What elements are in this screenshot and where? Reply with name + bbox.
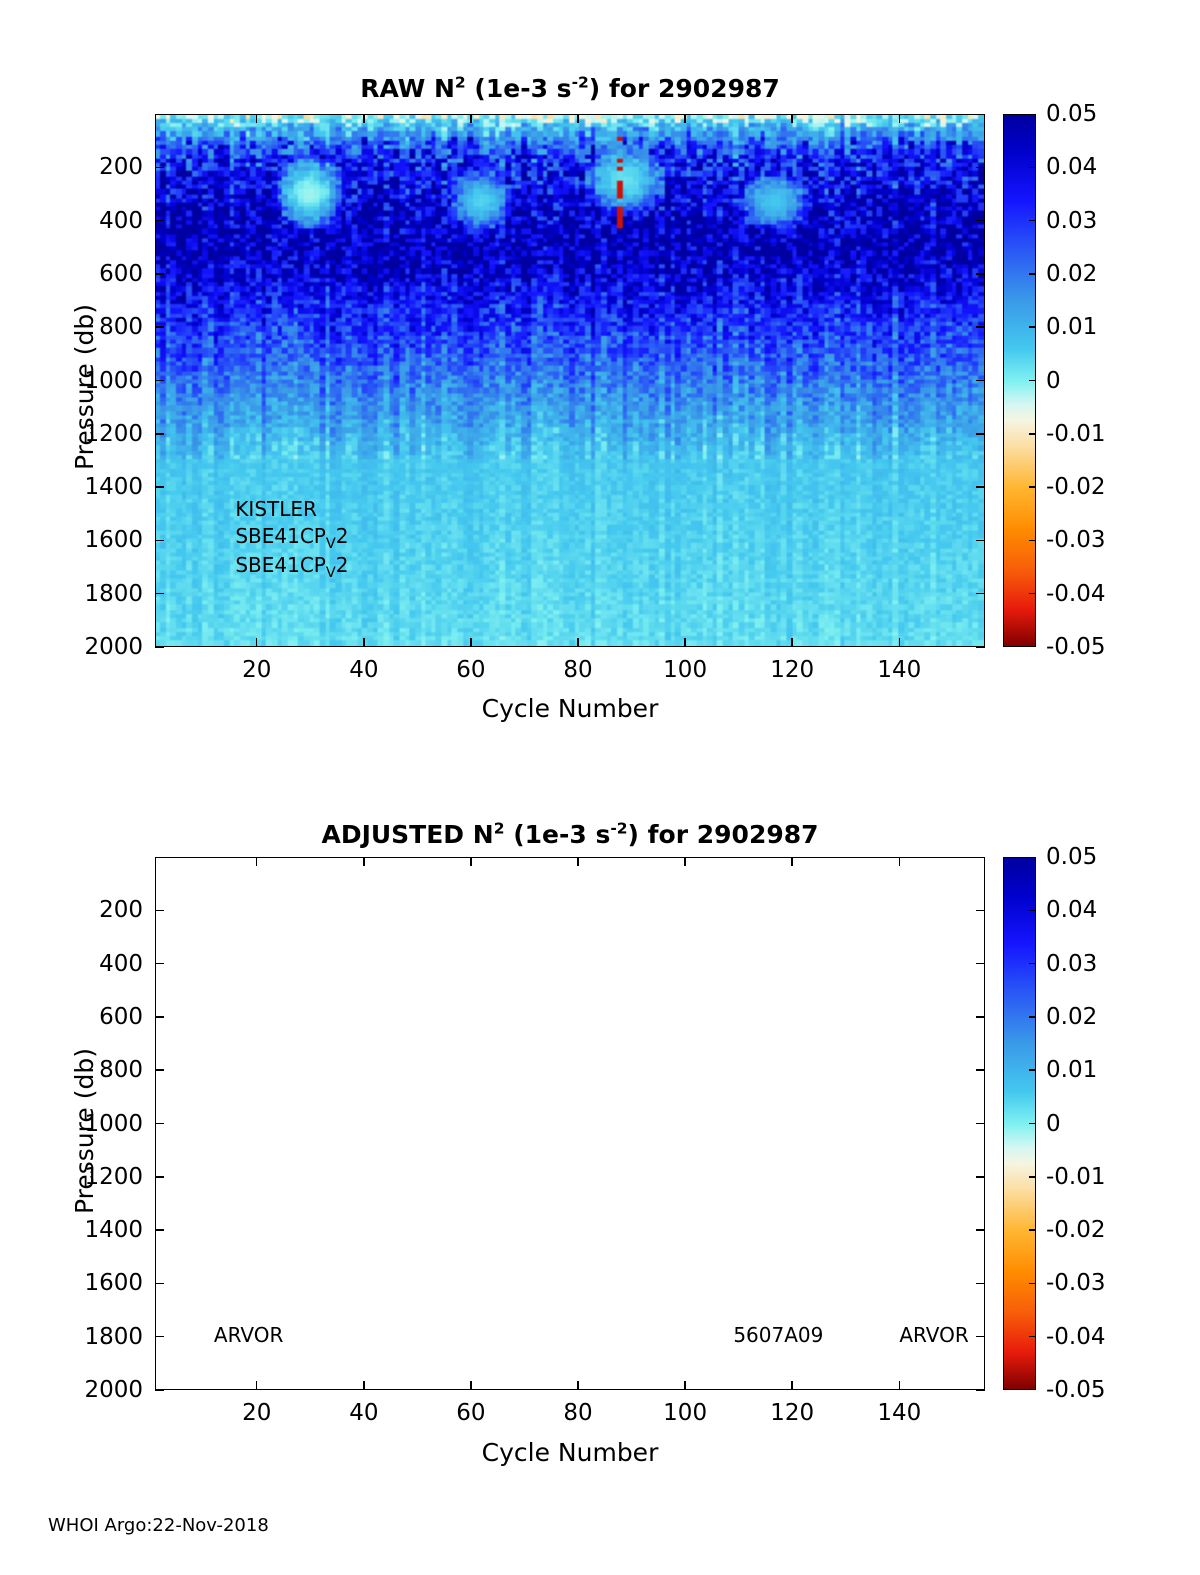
adjusted-yticklabel-2000: 2000	[47, 1377, 143, 1403]
adjusted-ytick-1600	[155, 1283, 164, 1285]
adjusted-ytick-right-1000	[976, 1123, 985, 1125]
adj-title-suffix: ) for 2902987	[628, 820, 819, 849]
adjusted-colorbar-tick-9	[1029, 1336, 1036, 1338]
adjusted-yticklabel-400: 400	[47, 951, 143, 977]
adjusted-colorbar-label-2: 0.03	[1046, 951, 1097, 977]
adjusted-xtick-120	[791, 1381, 793, 1390]
float-type-right-text: ARVOR	[899, 1323, 968, 1347]
adjusted-xticklabel-20: 20	[242, 1400, 271, 1426]
adjusted-xtick-60	[470, 1381, 472, 1390]
adjusted-colorbar-label-7: -0.02	[1046, 1217, 1106, 1243]
adjusted-colorbar-label-0: 0.05	[1046, 844, 1097, 870]
adj-title-prefix: ADJUSTED N	[321, 820, 493, 849]
adjusted-xticklabel-60: 60	[456, 1400, 485, 1426]
adjusted-colorbar-label-10: -0.05	[1046, 1377, 1106, 1403]
adjusted-ytick-right-1200	[976, 1176, 985, 1178]
adjusted-xtick-top-120	[791, 857, 793, 866]
panel-adjusted: ADJUSTED N2 (1e-3 s-2) for 2902987 20406…	[0, 0, 1200, 1500]
adjusted-ytick-right-600	[976, 1016, 985, 1018]
adjusted-xtick-140	[899, 1381, 901, 1390]
adjusted-ytick-1000	[155, 1123, 164, 1125]
adj-title-sup1: 2	[494, 820, 505, 838]
adjusted-ytick-right-800	[976, 1069, 985, 1071]
adjusted-ytick-600	[155, 1016, 164, 1018]
adjusted-colorbar-tick-4	[1029, 1069, 1036, 1071]
adjusted-colorbar-tick-6	[1029, 1176, 1036, 1178]
adjusted-yticklabel-1600: 1600	[47, 1270, 143, 1296]
adjusted-ytick-right-1600	[976, 1283, 985, 1285]
float-type-right: ARVOR	[899, 1323, 968, 1347]
adjusted-xtick-20	[256, 1381, 258, 1390]
adj-title-mid: (1e-3 s	[504, 820, 610, 849]
adjusted-xtick-100	[684, 1381, 686, 1390]
adjusted-ytick-right-200	[976, 910, 985, 912]
adjusted-yticklabel-1400: 1400	[47, 1217, 143, 1243]
adjusted-ytick-right-400	[976, 963, 985, 965]
adjusted-colorbar-label-6: -0.01	[1046, 1164, 1106, 1190]
adjusted-xtick-40	[363, 1381, 365, 1390]
adjusted-colorbar-label-8: -0.03	[1046, 1270, 1106, 1296]
adjusted-colorbar-tick-3	[1029, 1016, 1036, 1018]
adjusted-ytick-400	[155, 963, 164, 965]
float-type-left: ARVOR	[214, 1323, 283, 1347]
adjusted-colorbar-tick-1	[1029, 910, 1036, 912]
adjusted-xaxis-label: Cycle Number	[482, 1438, 659, 1467]
adjusted-colorbar-label-4: 0.01	[1046, 1057, 1097, 1083]
adjusted-ytick-right-2000	[976, 1389, 985, 1391]
adjusted-yticklabel-200: 200	[47, 897, 143, 923]
adjusted-xtick-top-140	[899, 857, 901, 866]
adjusted-ytick-2000	[155, 1389, 164, 1391]
adjusted-xtick-top-100	[684, 857, 686, 866]
adjusted-xtick-top-80	[577, 857, 579, 866]
adjusted-colorbar-label-9: -0.04	[1046, 1324, 1106, 1350]
adjusted-ytick-200	[155, 910, 164, 912]
adjusted-ytick-1400	[155, 1229, 164, 1231]
adjusted-colorbar-label-1: 0.04	[1046, 897, 1097, 923]
adjusted-colorbar-tick-2	[1029, 963, 1036, 965]
adjusted-colorbar-tick-8	[1029, 1283, 1036, 1285]
adjusted-ytick-1200	[155, 1176, 164, 1178]
board-serial-text: 5607A09	[733, 1323, 823, 1347]
figure-footer: WHOI Argo:22-Nov-2018	[48, 1515, 269, 1536]
adjusted-yticklabel-600: 600	[47, 1004, 143, 1030]
adjusted-xtick-top-20	[256, 857, 258, 866]
adjusted-xticklabel-120: 120	[770, 1400, 814, 1426]
adjusted-colorbar-label-5: 0	[1046, 1111, 1061, 1137]
adjusted-xtick-top-40	[363, 857, 365, 866]
adjusted-plot-title: ADJUSTED N2 (1e-3 s-2) for 2902987	[155, 820, 985, 849]
adjusted-xtick-top-60	[470, 857, 472, 866]
adjusted-colorbar-tick-7	[1029, 1229, 1036, 1231]
board-serial: 5607A09	[733, 1323, 823, 1347]
adjusted-xticklabel-80: 80	[563, 1400, 592, 1426]
adj-title-sup2: -2	[610, 820, 627, 838]
adjusted-ytick-right-1400	[976, 1229, 985, 1231]
adjusted-xticklabel-140: 140	[877, 1400, 921, 1426]
adjusted-axes-frame[interactable]	[155, 857, 985, 1390]
adjusted-ytick-right-1800	[976, 1336, 985, 1338]
adjusted-xticklabel-100: 100	[663, 1400, 707, 1426]
adjusted-ytick-800	[155, 1069, 164, 1071]
float-type-left-text: ARVOR	[214, 1323, 283, 1347]
adjusted-colorbar-label-3: 0.02	[1046, 1004, 1097, 1030]
adjusted-xtick-80	[577, 1381, 579, 1390]
adjusted-yticklabel-1800: 1800	[47, 1324, 143, 1350]
adjusted-colorbar-tick-5	[1029, 1123, 1036, 1125]
adjusted-yaxis-label: Pressure (db)	[70, 1048, 99, 1214]
adjusted-ytick-1800	[155, 1336, 164, 1338]
adjusted-xticklabel-40: 40	[349, 1400, 378, 1426]
